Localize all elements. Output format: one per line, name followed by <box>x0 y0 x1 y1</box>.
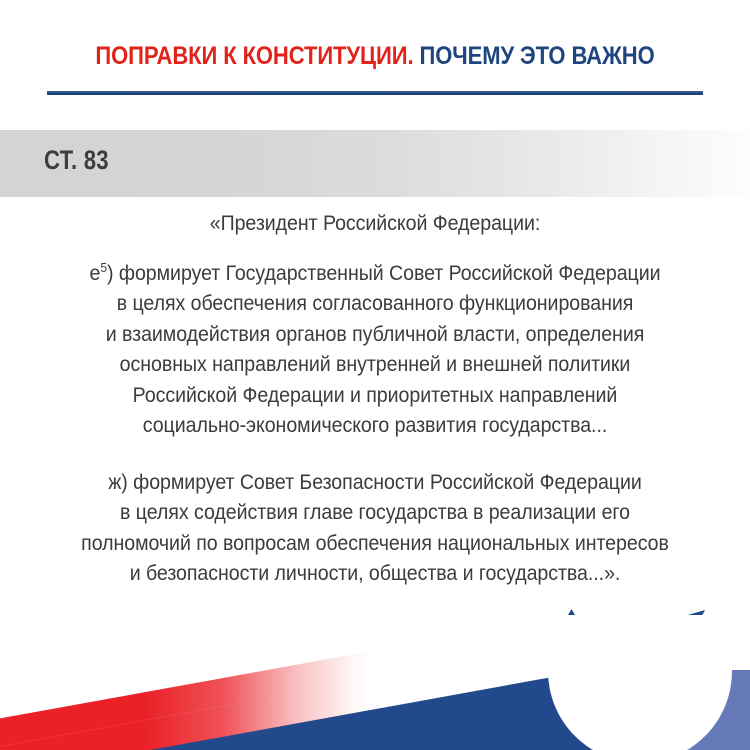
page-title: ПОПРАВКИ К КОНСТИТУЦИИ. ПОЧЕМУ ЭТО ВАЖНО <box>45 41 705 71</box>
bottom-ribbon <box>0 615 750 750</box>
constitution-quote-block: «Президент Российской Федерации: е5) фор… <box>20 208 730 589</box>
clause-zh: ж) формирует Совет Безопасности Российск… <box>50 467 700 589</box>
quote-lead-line: «Президент Российской Федерации: <box>50 208 700 239</box>
page-title-emphasis: ПОПРАВКИ К КОНСТИТУЦИИ. <box>95 42 413 70</box>
page-title-subtitle: ПОЧЕМУ ЭТО ВАЖНО <box>413 42 654 70</box>
article-number-bar: СТ. 83 <box>0 130 750 197</box>
header: ПОПРАВКИ К КОНСТИТУЦИИ. ПОЧЕМУ ЭТО ВАЖНО <box>0 0 750 108</box>
clause-e5-text: ) формирует Государственный Совет Россий… <box>106 261 661 438</box>
article-number-label: СТ. 83 <box>44 145 109 176</box>
ribbon-white-disc <box>548 615 732 750</box>
poster-canvas: ПОПРАВКИ К КОНСТИТУЦИИ. ПОЧЕМУ ЭТО ВАЖНО… <box>0 0 750 750</box>
clause-e5-marker: е <box>89 261 100 285</box>
header-divider <box>47 91 703 95</box>
clause-e5: е5) формирует Государственный Совет Росс… <box>50 258 700 441</box>
